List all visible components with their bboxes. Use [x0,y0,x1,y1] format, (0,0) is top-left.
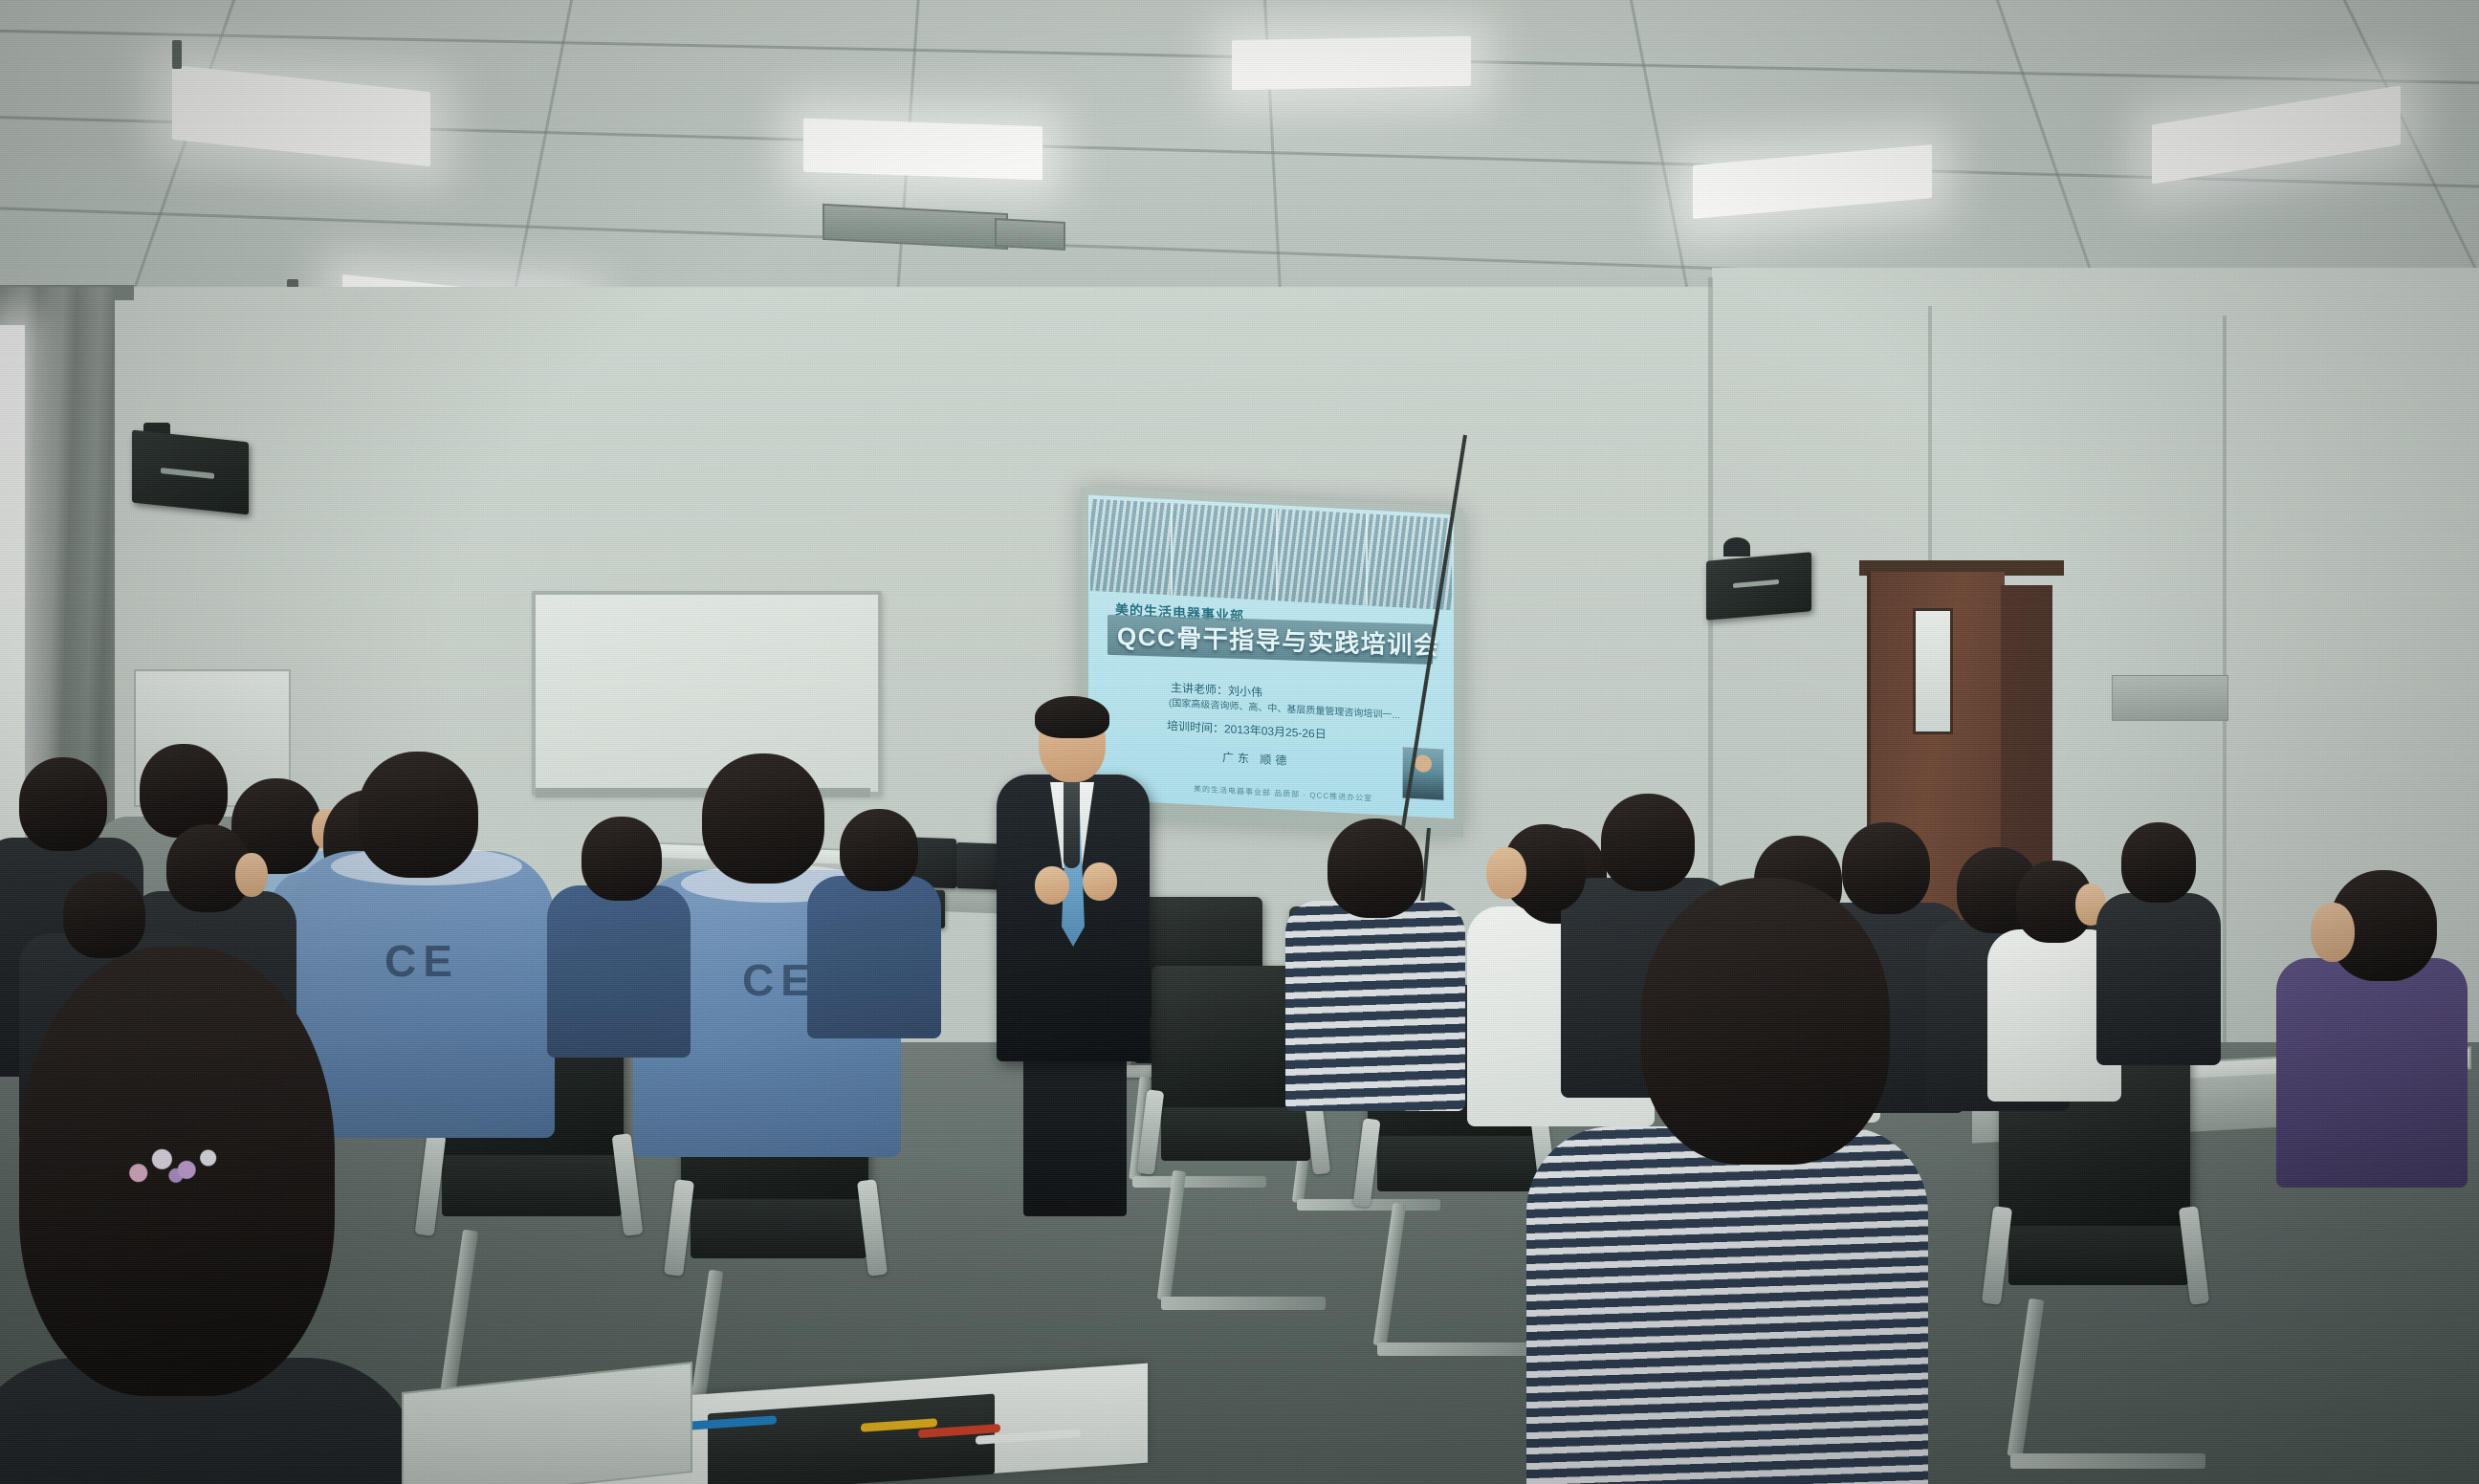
ceiling-air-vent [995,218,1065,251]
training-room-photo: 美的生活电器事业部 QCC骨干指导与实践培训会 主讲老师：刘小伟 (国家高级咨询… [0,0,2479,1484]
ceiling-light-panel [803,119,1042,181]
ceiling-light-panel [1693,144,1932,219]
wall-sign-plate [2112,675,2228,721]
ce-logo-right: CE [742,954,817,1006]
presenter [976,669,1167,1176]
whiteboard[interactable] [532,591,882,796]
presenter-hand-left [1035,866,1069,905]
ceiling-light-panel [2152,85,2401,184]
ceiling-hook [172,40,182,69]
ceiling-light-panel [1232,36,1471,90]
presenter-hand-right [1083,862,1117,901]
door-vision-panel [1913,608,1953,734]
presenter-hair [1035,696,1109,738]
ceiling-light-panel [172,65,430,166]
speaker-bracket-right [1723,537,1750,556]
presenter-shoe [1029,1201,1071,1216]
ce-logo-left: CE [384,935,459,987]
slide-speaker-credentials: (国家高级咨询师、高、中、基层质量管理咨询培训一... [1169,694,1400,721]
presenter-shoe [1077,1201,1119,1216]
ceiling-air-vent [823,204,1008,250]
slide-date-line: 培训时间：2013年03月25-26日 [1167,717,1327,742]
slide-location-line: 广东 顺德 [1222,749,1290,769]
slide-header-photo-strip [1090,499,1452,610]
wall-speaker-right [1706,552,1811,621]
presenter-legs [1023,1054,1127,1216]
slide-footer-line: 美的生活电器事业部 品质部 · QCC推进办公室 [1194,784,1372,804]
